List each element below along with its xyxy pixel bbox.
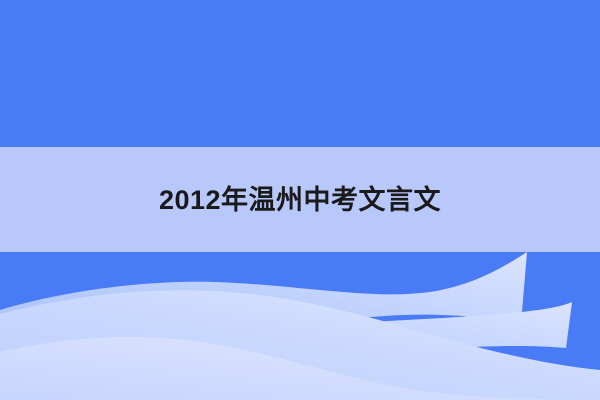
title-band: 2012年温州中考文言文	[0, 147, 600, 252]
page-title: 2012年温州中考文言文	[159, 187, 441, 214]
wave-illustration	[0, 252, 600, 400]
wave-band	[0, 252, 600, 400]
top-blue-band	[0, 0, 600, 147]
banner-graphic: 2012年温州中考文言文	[0, 0, 600, 400]
